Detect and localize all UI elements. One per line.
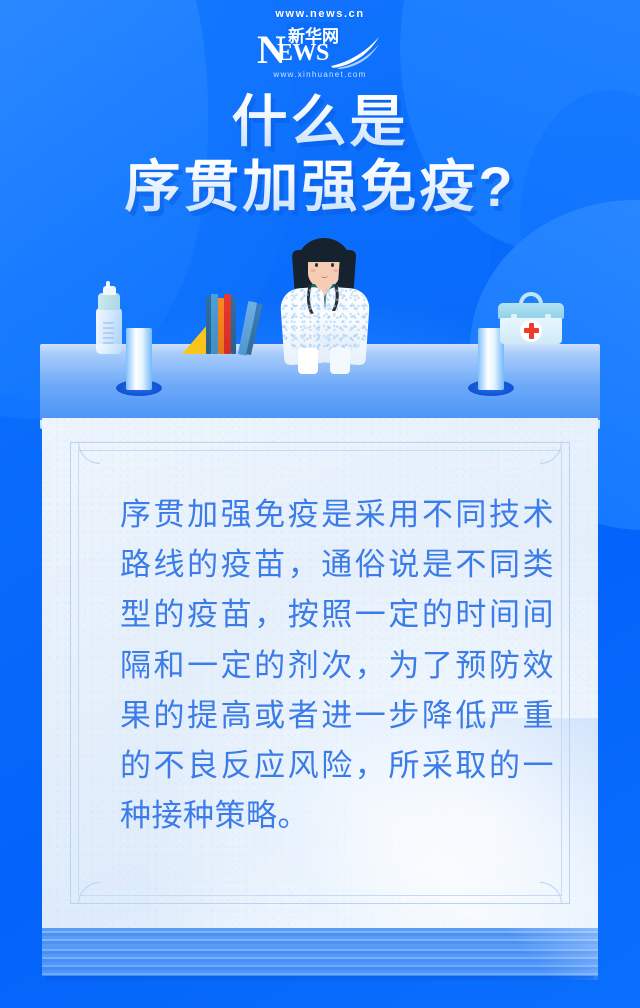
stack-corner-highlight: [488, 928, 598, 980]
column-shaft-left: [126, 328, 152, 390]
title-line-2: 序贯加强免疫?: [0, 157, 640, 216]
content-card: 序贯加强免疫是采用不同技术路线的疫苗，通俗说是不同类型的疫苗，按照一定的时间间隔…: [42, 418, 598, 928]
logo-letters-ews: EWS: [277, 40, 329, 67]
first-aid-kit-icon: [498, 292, 564, 344]
doctor-figure-icon: [268, 236, 380, 374]
card-body-text: 序贯加强免疫是采用不同技术路线的疫苗，通俗说是不同类型的疫苗，按照一定的时间间隔…: [120, 490, 554, 842]
doctor-leg-right: [330, 348, 350, 374]
spray-bottle-tip: [106, 281, 110, 288]
doctor-hair-fringe: [304, 240, 344, 262]
books-stack-icon: [182, 292, 260, 354]
book-red: [224, 294, 231, 354]
xinhua-logo: www.news.cn N 新华网 EWS www.xinhuanet.com: [0, 8, 640, 79]
spray-bottle-nozzle: [103, 286, 116, 295]
doctor-eye-left: [315, 263, 318, 267]
book-lightblue: [211, 294, 218, 354]
doctor-leg-left: [298, 348, 318, 374]
swoosh-icon: [329, 35, 381, 69]
spray-bottle-label: [103, 322, 114, 346]
sanitizer-spray-bottle-icon: [94, 282, 124, 354]
doctor-eye-right: [331, 263, 334, 267]
title-line-1: 什么是: [0, 92, 640, 151]
book-darkblue-2: [231, 297, 236, 354]
doctor-blush-left: [310, 269, 316, 272]
infographic-poster: www.news.cn N 新华网 EWS www.xinhuanet.com …: [0, 0, 640, 1008]
book-yellow-wedge: [182, 324, 208, 354]
logo-bottom-url: www.xinhuanet.com: [273, 70, 366, 79]
paper-stack-stripes: [42, 928, 598, 980]
red-cross-horizontal: [524, 328, 539, 333]
stack-drop-shadow: [46, 976, 594, 982]
logo-wordmark: N 新华网 EWS: [257, 21, 383, 67]
kit-lid: [498, 303, 564, 319]
illustration-scene: [0, 236, 640, 422]
logo-top-url: www.news.cn: [275, 8, 364, 20]
poster-title: 什么是 序贯加强免疫?: [0, 92, 640, 217]
doctor-blush-right: [333, 269, 339, 272]
spray-bottle-cap: [98, 293, 120, 310]
